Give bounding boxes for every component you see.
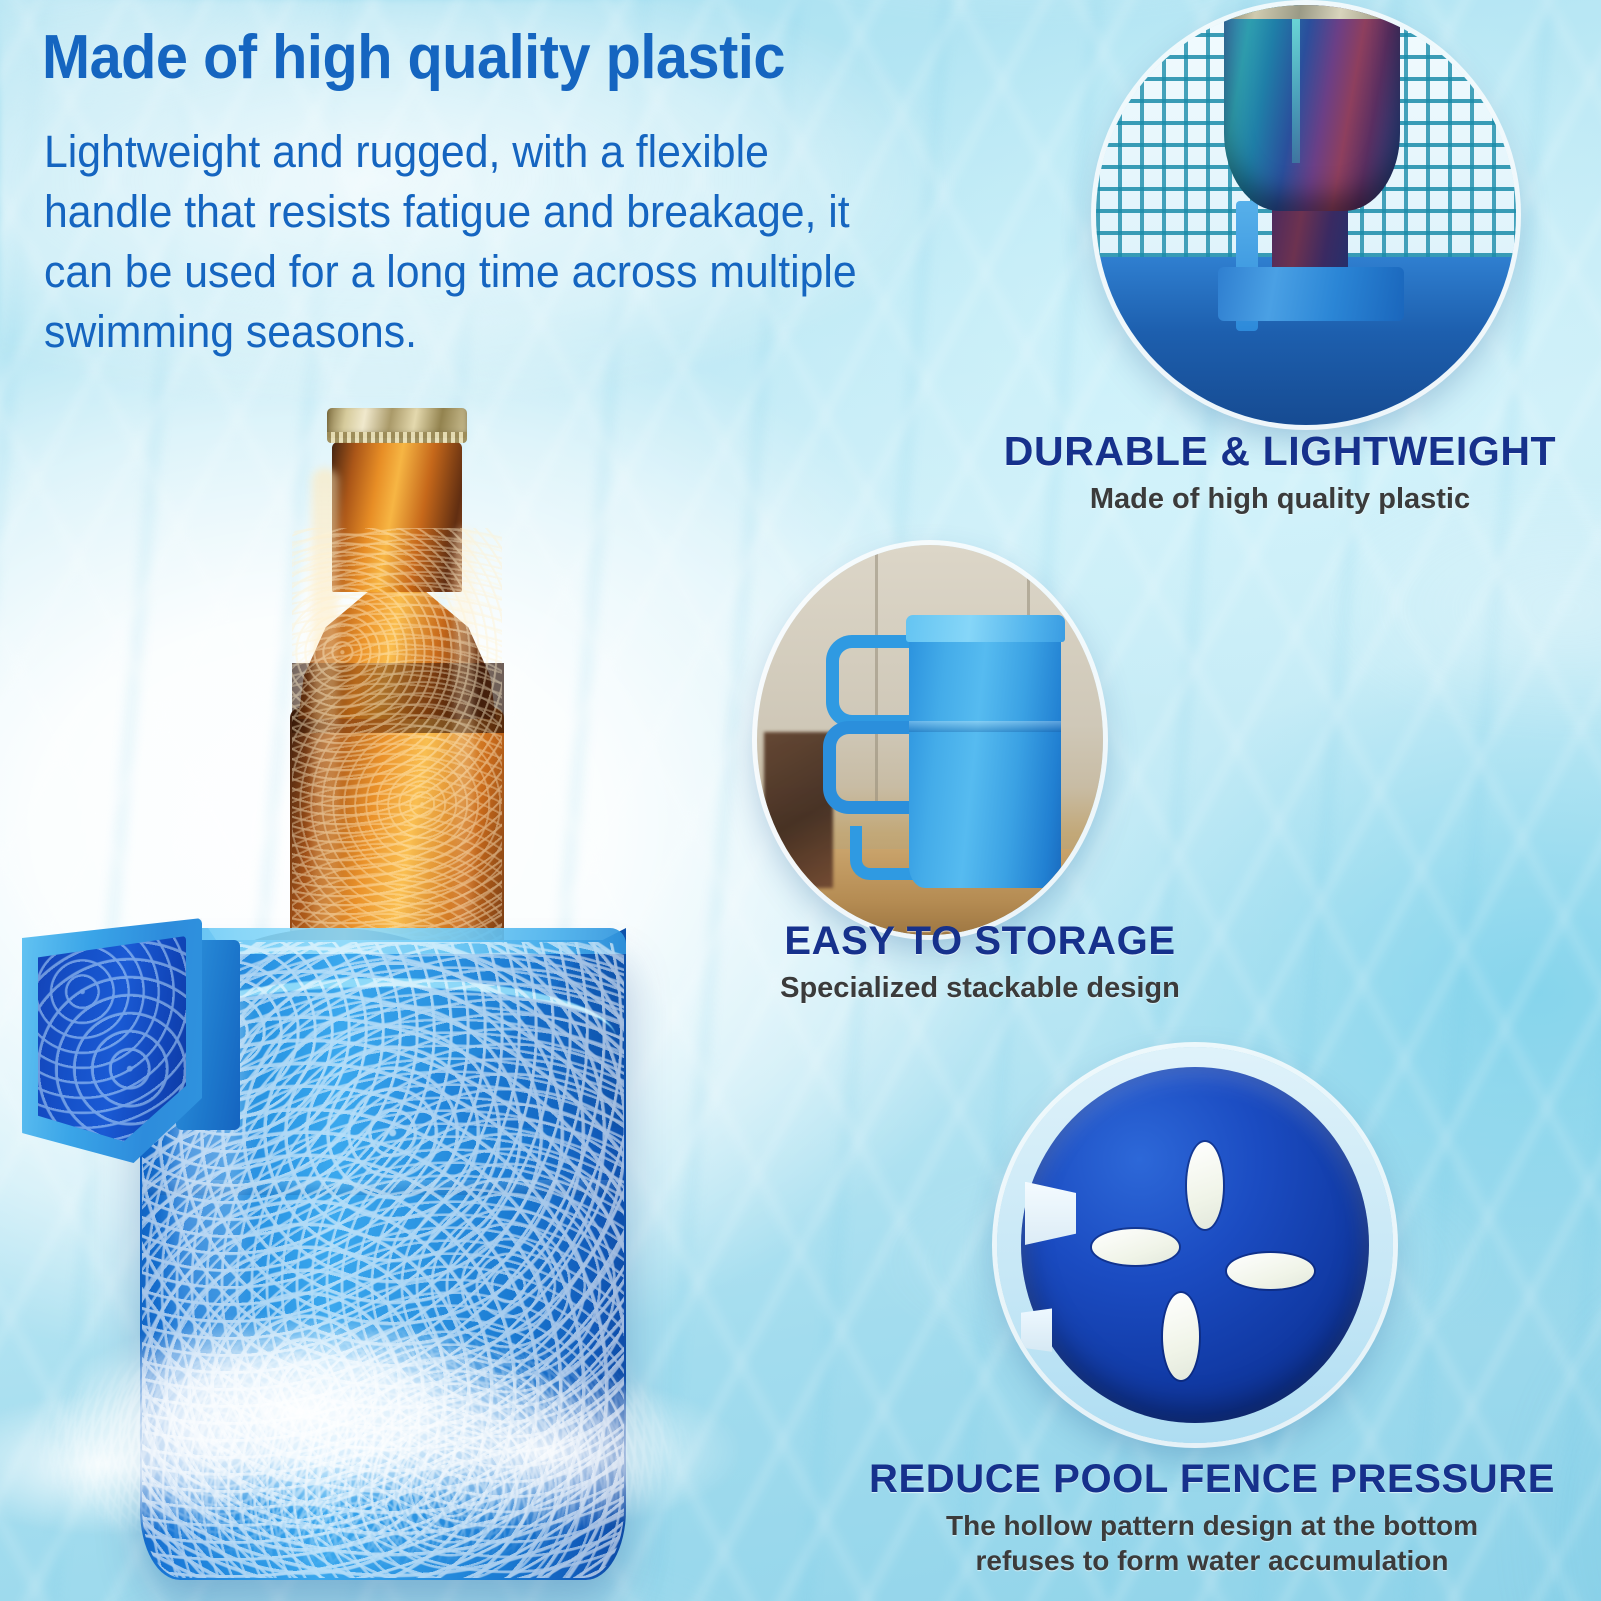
stacked-handle-upper [826, 635, 916, 729]
feature-subtitle-reduce-line-1: The hollow pattern design at the bottom [828, 1509, 1596, 1544]
product-feature-graphic: Made of high quality plastic Lightweight… [0, 0, 1601, 1601]
feature-title-reduce: REDUCE POOL FENCE PRESSURE [828, 1458, 1596, 1500]
stacked-cup-rim [906, 615, 1065, 642]
feature-subtitle-reduce: The hollow pattern design at the bottom … [828, 1509, 1596, 1578]
page-headline: Made of high quality plastic [42, 26, 963, 89]
body-line-1: Lightweight and rugged, with a flexible [44, 122, 975, 182]
inset-image-storage [757, 545, 1103, 935]
body-line-3: can be used for a long time across multi… [44, 242, 975, 302]
feature-subtitle-storage-line-1: Specialized stackable design [720, 971, 1240, 1007]
feature-subtitle-storage: Specialized stackable design [720, 971, 1240, 1007]
feature-caption-reduce: REDUCE POOL FENCE PRESSURE The hollow pa… [828, 1458, 1596, 1579]
drain-slot-east [1227, 1253, 1314, 1289]
drain-slot-north [1187, 1142, 1223, 1229]
feature-subtitle-reduce-line-2: refuses to form water accumulation [828, 1544, 1596, 1579]
holder-underside-disc [1021, 1067, 1369, 1423]
hero-product-photo [0, 380, 720, 1601]
feature-caption-storage: EASY TO STORAGE Specialized stackable de… [720, 920, 1240, 1007]
bottle-crown-cap [327, 408, 467, 438]
fence-mount-bracket [1218, 267, 1404, 321]
underside-notch-lower [1021, 1308, 1053, 1352]
feature-title-durable: DURABLE & LIGHTWEIGHT [960, 430, 1600, 473]
water-splash-spray [10, 1320, 710, 1600]
stacked-cup-seam [909, 721, 1061, 733]
stacked-handle-lower [823, 721, 916, 815]
inset-image-durable [1096, 5, 1516, 425]
feature-caption-durable: DURABLE & LIGHTWEIGHT Made of high quali… [960, 430, 1600, 518]
inset-image-drainage [997, 1047, 1393, 1443]
body-line-2: handle that resists fatigue and breakage… [44, 182, 975, 242]
feature-subtitle-durable-line-1: Made of high quality plastic [960, 482, 1600, 518]
mounted-holder-rim [1222, 5, 1402, 19]
mounted-cup-holder [1224, 5, 1400, 211]
feature-title-storage: EASY TO STORAGE [720, 920, 1240, 962]
stacked-cup-holders [909, 623, 1061, 888]
page-body-copy: Lightweight and rugged, with a flexible … [44, 122, 975, 361]
feature-subtitle-durable: Made of high quality plastic [960, 482, 1600, 518]
drain-slot-west [1092, 1229, 1179, 1265]
drain-slot-south [1163, 1293, 1199, 1380]
body-line-4: swimming seasons. [44, 302, 975, 362]
holder-groove [1292, 13, 1300, 163]
